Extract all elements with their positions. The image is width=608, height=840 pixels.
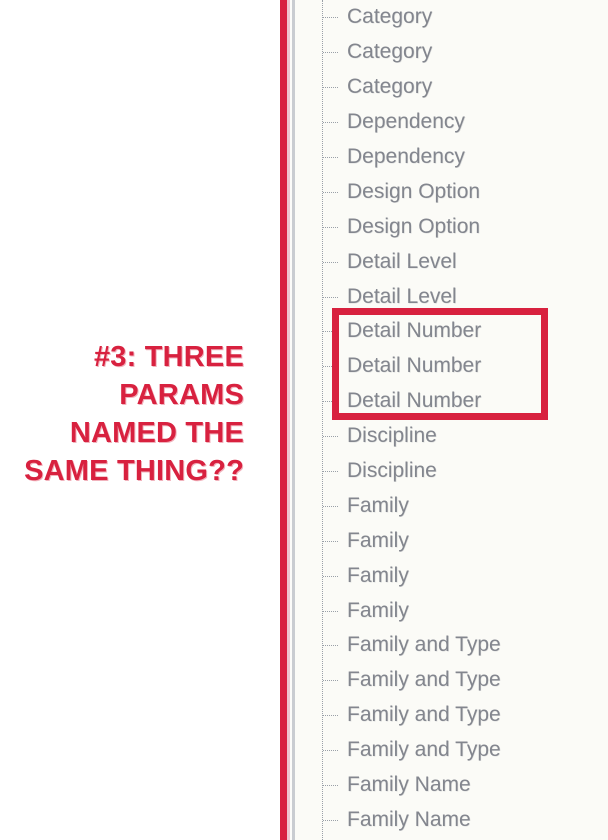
tree-item-label: Design Option bbox=[347, 180, 480, 204]
screenshot-root: #3: THREE PARAMS NAMED THE SAME THING?? … bbox=[0, 0, 608, 840]
tree-connector-icon bbox=[323, 52, 338, 53]
tree-item[interactable]: Detail Level bbox=[295, 244, 608, 279]
tree-item[interactable]: Category bbox=[295, 0, 608, 35]
tree-connector-icon bbox=[323, 680, 338, 681]
tree-connector-icon bbox=[323, 576, 338, 577]
tree-item[interactable]: Design Option bbox=[295, 174, 608, 209]
tree-item[interactable]: Category bbox=[295, 35, 608, 70]
tree-item[interactable]: Family Name bbox=[295, 768, 608, 803]
tree-connector-icon bbox=[323, 541, 338, 542]
tree-item-label: Family Name bbox=[347, 773, 471, 797]
tree-connector-icon bbox=[323, 17, 338, 18]
tree-item[interactable]: Dependency bbox=[295, 140, 608, 175]
tree-item[interactable]: Design Option bbox=[295, 209, 608, 244]
tree-item-label: Family and Type bbox=[347, 633, 501, 657]
tree-item[interactable]: Detail Number bbox=[295, 384, 608, 419]
tree-connector-icon bbox=[323, 820, 338, 821]
tree-connector-icon bbox=[323, 506, 338, 507]
tree-item[interactable]: Detail Number bbox=[295, 314, 608, 349]
tree-item[interactable]: Dependency bbox=[295, 105, 608, 140]
tree-connector-icon bbox=[323, 87, 338, 88]
tree-item[interactable]: Discipline bbox=[295, 454, 608, 489]
parameter-tree-list[interactable]: CategoryCategoryCategoryDependencyDepend… bbox=[295, 0, 608, 837]
tree-item-label: Category bbox=[347, 5, 432, 29]
tree-connector-icon bbox=[323, 401, 338, 402]
tree-connector-icon bbox=[323, 157, 338, 158]
tree-item-label: Dependency bbox=[347, 145, 465, 169]
tree-connector-icon bbox=[323, 611, 338, 612]
tree-item[interactable]: Family and Type bbox=[295, 698, 608, 733]
tree-item[interactable]: Family bbox=[295, 488, 608, 523]
tree-item-label: Discipline bbox=[347, 424, 437, 448]
tree-item-label: Detail Number bbox=[347, 354, 481, 378]
tree-connector-icon bbox=[323, 122, 338, 123]
tree-item-label: Detail Number bbox=[347, 389, 481, 413]
tree-item-label: Category bbox=[347, 75, 432, 99]
tree-item-label: Discipline bbox=[347, 459, 437, 483]
tree-item-label: Detail Number bbox=[347, 319, 481, 343]
annotation-panel: #3: THREE PARAMS NAMED THE SAME THING?? bbox=[0, 0, 280, 840]
tree-item-label: Family and Type bbox=[347, 738, 501, 762]
tree-item[interactable]: Family Name bbox=[295, 802, 608, 837]
tree-connector-icon bbox=[323, 715, 338, 716]
tree-item[interactable]: Discipline bbox=[295, 419, 608, 454]
tree-item[interactable]: Category bbox=[295, 70, 608, 105]
tree-connector-icon bbox=[323, 750, 338, 751]
tree-connector-icon bbox=[323, 436, 338, 437]
tree-connector-icon bbox=[323, 471, 338, 472]
tree-item[interactable]: Family and Type bbox=[295, 663, 608, 698]
tree-item-label: Category bbox=[347, 40, 432, 64]
tree-item[interactable]: Detail Number bbox=[295, 349, 608, 384]
tree-item-label: Family bbox=[347, 599, 409, 623]
tree-connector-icon bbox=[323, 785, 338, 786]
parameter-tree-panel[interactable]: CategoryCategoryCategoryDependencyDepend… bbox=[295, 0, 608, 840]
tree-item[interactable]: Family and Type bbox=[295, 733, 608, 768]
tree-connector-icon bbox=[323, 262, 338, 263]
tree-item[interactable]: Family and Type bbox=[295, 628, 608, 663]
tree-item-label: Family and Type bbox=[347, 668, 501, 692]
divider-red-bar bbox=[280, 0, 287, 840]
tree-item[interactable]: Detail Level bbox=[295, 279, 608, 314]
tree-connector-icon bbox=[323, 366, 338, 367]
tree-item[interactable]: Family bbox=[295, 523, 608, 558]
tree-item[interactable]: Family bbox=[295, 558, 608, 593]
tree-item-label: Family bbox=[347, 494, 409, 518]
tree-item-label: Family Name bbox=[347, 808, 471, 832]
tree-connector-icon bbox=[323, 192, 338, 193]
tree-item-label: Dependency bbox=[347, 110, 465, 134]
tree-connector-icon bbox=[323, 331, 338, 332]
tree-connector-icon bbox=[323, 297, 338, 298]
tree-item-label: Detail Level bbox=[347, 285, 457, 309]
tree-item[interactable]: Family bbox=[295, 593, 608, 628]
tree-item-label: Family and Type bbox=[347, 703, 501, 727]
tree-item-label: Family bbox=[347, 529, 409, 553]
tree-item-label: Detail Level bbox=[347, 250, 457, 274]
tree-connector-icon bbox=[323, 645, 338, 646]
tree-connector-icon bbox=[323, 227, 338, 228]
tree-item-label: Design Option bbox=[347, 215, 480, 239]
callout-title: #3: THREE PARAMS NAMED THE SAME THING?? bbox=[18, 338, 244, 490]
tree-item-label: Family bbox=[347, 564, 409, 588]
